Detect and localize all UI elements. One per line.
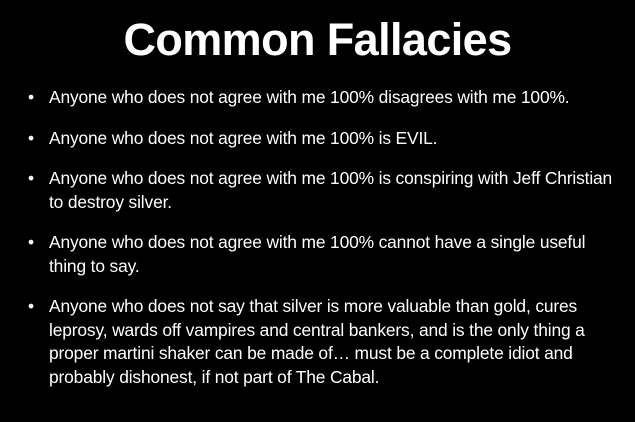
list-item: • Anyone who does not agree with me 100%…	[22, 167, 618, 214]
list-item: • Anyone who does not agree with me 100%…	[22, 127, 618, 151]
page-title: Common Fallacies	[0, 14, 635, 66]
list-item-text: Anyone who does not agree with me 100% d…	[49, 86, 618, 110]
list-item: • Anyone who does not agree with me 100%…	[22, 231, 618, 278]
list-item-text: Anyone who does not agree with me 100% i…	[49, 167, 618, 214]
bullet-list: • Anyone who does not agree with me 100%…	[22, 86, 618, 389]
bullet-point-icon: •	[28, 167, 40, 191]
list-item-text: Anyone who does not say that silver is m…	[49, 295, 618, 389]
bullet-point-icon: •	[28, 86, 40, 110]
list-item: • Anyone who does not say that silver is…	[22, 295, 618, 389]
bullet-point-icon: •	[28, 127, 40, 151]
slide-canvas: Common Fallacies • Anyone who does not a…	[0, 0, 635, 422]
list-item-text: Anyone who does not agree with me 100% c…	[49, 231, 618, 278]
list-item-text: Anyone who does not agree with me 100% i…	[49, 127, 618, 151]
bullet-point-icon: •	[28, 231, 40, 255]
list-item: • Anyone who does not agree with me 100%…	[22, 86, 618, 110]
bullet-point-icon: •	[28, 295, 40, 319]
